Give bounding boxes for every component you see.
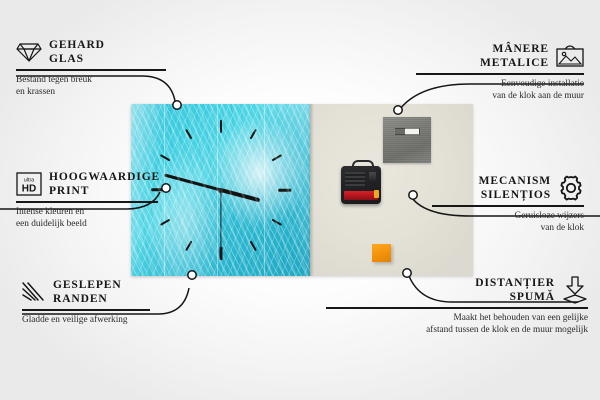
metal-hanger-plate-icon bbox=[383, 117, 431, 163]
clock-minute-hand bbox=[164, 174, 221, 192]
clock-tick bbox=[271, 219, 282, 226]
callout-desc: Intense kleuren en een duidelijk beeld bbox=[16, 206, 158, 232]
clock-tick bbox=[271, 154, 282, 161]
callout-rule bbox=[432, 205, 584, 207]
beveled-edges-icon bbox=[22, 281, 46, 303]
battery-terminal bbox=[374, 190, 379, 198]
infographic-canvas: GEHARD GLAS Bestand tegen breuk en krass… bbox=[0, 0, 600, 400]
mechanism-handle bbox=[352, 160, 374, 171]
callout-mecanism-silentios: MECANISM SILENȚIOS Geruisloze wijzers va… bbox=[432, 174, 584, 235]
callout-desc: Bestand tegen breuk en krassen bbox=[16, 74, 166, 100]
hd-label: HD bbox=[22, 184, 36, 195]
callout-rule bbox=[416, 73, 584, 75]
clock-tick bbox=[185, 241, 192, 252]
callout-title: DISTANȚIER SPUMĂ bbox=[475, 276, 555, 304]
callout-desc: Gladde en veilige afwerking bbox=[22, 314, 150, 327]
callout-title: GEHARD GLAS bbox=[49, 38, 105, 66]
callout-title: HOOGWAARDIGE PRINT bbox=[49, 170, 160, 198]
clock-second-hand bbox=[220, 190, 221, 252]
clock-hour-hand bbox=[220, 188, 260, 202]
gear-icon bbox=[558, 175, 584, 201]
callout-title: GESLEPEN RANDEN bbox=[53, 278, 122, 306]
callout-rule bbox=[16, 69, 166, 71]
mechanism-vent bbox=[345, 172, 365, 186]
callout-hoogwaardige-print: ultra HD HOOGWAARDIGE PRINT Intense kleu… bbox=[16, 170, 158, 231]
callout-manere-metalice: MÂNERE METALICE Eenvoudige installatie v… bbox=[416, 42, 584, 103]
mechanism-knob bbox=[369, 172, 376, 181]
ultra-hd-icon: ultra HD bbox=[16, 172, 42, 196]
quartz-mechanism-box bbox=[341, 166, 381, 204]
foam-spacer bbox=[372, 244, 391, 262]
callout-rule bbox=[326, 307, 588, 309]
down-arrow-pad-icon bbox=[562, 276, 588, 304]
hanger-slot bbox=[394, 128, 420, 135]
callout-desc: Geruisloze wijzers van de klok bbox=[432, 210, 584, 236]
clock-tick bbox=[249, 129, 256, 140]
callout-rule bbox=[22, 309, 150, 311]
diamond-icon bbox=[16, 41, 42, 63]
callout-title: MECANISM SILENȚIOS bbox=[479, 174, 551, 202]
callout-desc: Eenvoudige installatie van de klok aan d… bbox=[416, 78, 584, 104]
clock-tick bbox=[185, 129, 192, 140]
glass-seam bbox=[264, 104, 265, 276]
product-image bbox=[131, 104, 473, 276]
callout-desc: Maakt het behouden van een gelijke afsta… bbox=[326, 312, 588, 338]
clock-tick bbox=[278, 189, 291, 192]
callout-gehard-glas: GEHARD GLAS Bestand tegen breuk en krass… bbox=[16, 38, 166, 99]
callout-rule bbox=[16, 201, 158, 203]
callout-geslepen-randen: GESLEPEN RANDEN Gladde en veilige afwerk… bbox=[22, 278, 150, 326]
clock-tick bbox=[220, 120, 223, 133]
callout-title: MÂNERE METALICE bbox=[480, 42, 549, 70]
clock-tick bbox=[249, 241, 256, 252]
callout-distantier-spuma: DISTANȚIER SPUMĂ Maakt het behouden van … bbox=[326, 276, 588, 337]
picture-hanger-icon bbox=[556, 44, 584, 68]
battery bbox=[344, 191, 378, 200]
clock-hand-cap bbox=[218, 188, 223, 193]
